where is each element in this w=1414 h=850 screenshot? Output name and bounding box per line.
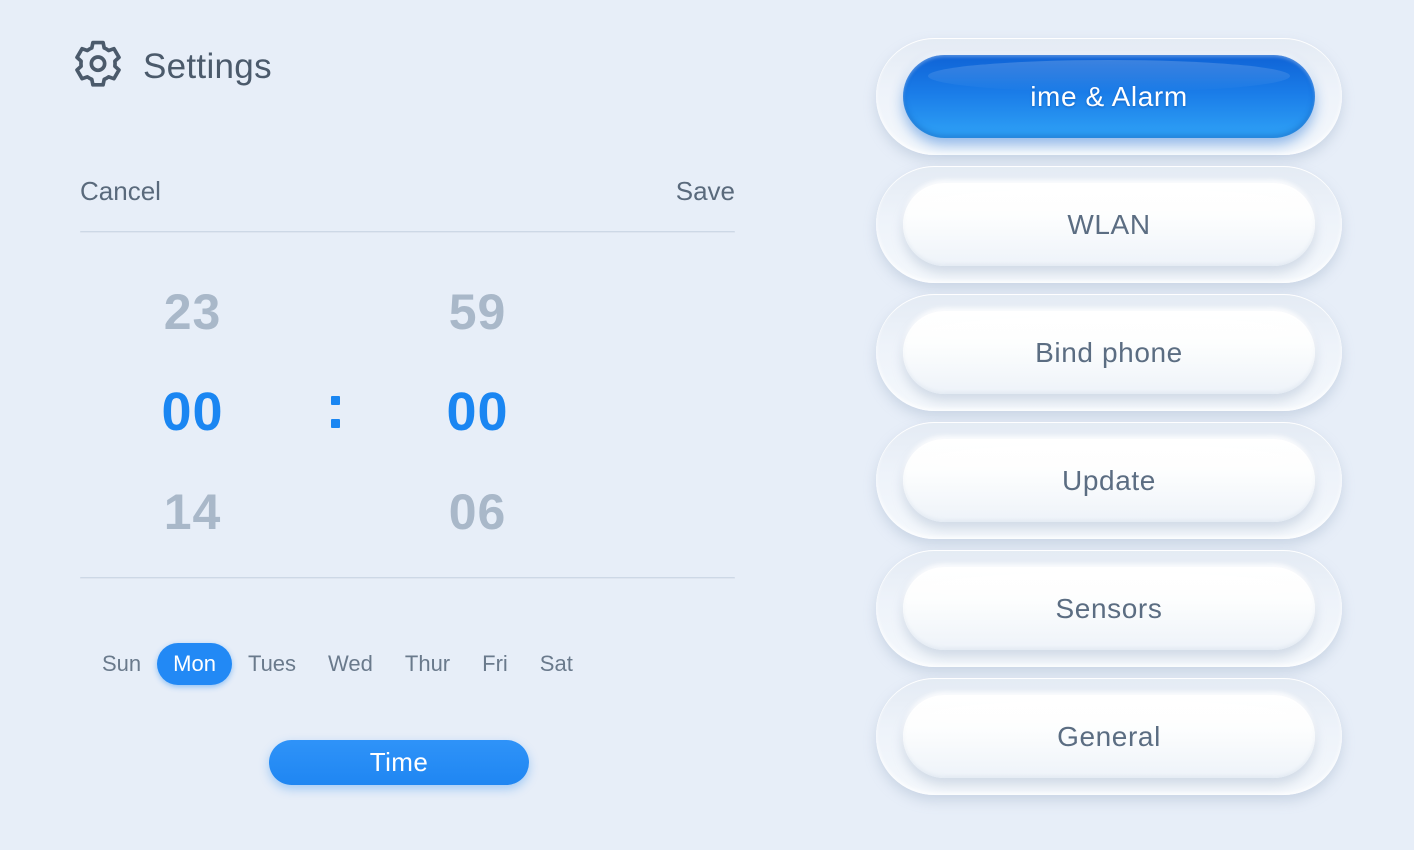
divider-top (80, 231, 735, 233)
nav-item-update[interactable]: Update (876, 422, 1342, 539)
hour-selected[interactable]: 00 (161, 362, 223, 462)
nav-pill-wlan: WLAN (903, 183, 1315, 266)
day-chip-sat[interactable]: Sat (524, 643, 589, 685)
day-chip-thur[interactable]: Thur (389, 643, 466, 685)
day-chip-mon[interactable]: Mon (157, 643, 232, 685)
minute-selected[interactable]: 00 (446, 362, 508, 462)
nav-item-time-alarm[interactable]: ime & Alarm (876, 38, 1342, 155)
minute-next[interactable]: 06 (449, 462, 507, 562)
time-picker: 23 00 14 59 00 06 (80, 262, 735, 562)
gear-icon (70, 38, 126, 94)
day-chip-wed[interactable]: Wed (312, 643, 389, 685)
page-title: Settings (143, 49, 272, 84)
page-header: Settings (70, 38, 272, 94)
cancel-button[interactable]: Cancel (80, 178, 161, 204)
nav-item-wlan[interactable]: WLAN (876, 166, 1342, 283)
day-selector: Sun Mon Tues Wed Thur Fri Sat (86, 643, 589, 685)
nav-item-general[interactable]: General (876, 678, 1342, 795)
minute-column[interactable]: 59 00 06 (365, 262, 590, 562)
settings-screen: Settings Cancel Save 23 00 14 59 00 06 (0, 0, 1414, 850)
nav-label-general: General (1057, 723, 1161, 751)
nav-pill-time-alarm: ime & Alarm (903, 55, 1315, 138)
nav-label-update: Update (1062, 467, 1156, 495)
hour-next[interactable]: 14 (164, 462, 222, 562)
nav-label-bind-phone: Bind phone (1035, 339, 1183, 367)
nav-pill-bind-phone: Bind phone (903, 311, 1315, 394)
settings-nav-list: ime & Alarm WLAN Bind phone Update Senso… (876, 38, 1342, 795)
day-chip-sun[interactable]: Sun (86, 643, 157, 685)
nav-label-wlan: WLAN (1067, 211, 1150, 239)
colon-dot-top (331, 396, 340, 405)
save-button[interactable]: Save (676, 178, 735, 204)
nav-label-sensors: Sensors (1056, 595, 1163, 623)
time-confirm-button[interactable]: Time (269, 740, 529, 785)
hour-previous[interactable]: 23 (164, 262, 222, 362)
day-chip-fri[interactable]: Fri (466, 643, 524, 685)
time-separator (305, 396, 365, 428)
nav-item-sensors[interactable]: Sensors (876, 550, 1342, 667)
time-alarm-panel: Settings Cancel Save 23 00 14 59 00 06 (0, 0, 830, 850)
hour-column[interactable]: 23 00 14 (80, 262, 305, 562)
colon-dot-bottom (331, 419, 340, 428)
minute-previous[interactable]: 59 (449, 262, 507, 362)
nav-pill-general: General (903, 695, 1315, 778)
editor-action-row: Cancel Save (80, 178, 735, 204)
day-chip-tues[interactable]: Tues (232, 643, 312, 685)
nav-pill-sensors: Sensors (903, 567, 1315, 650)
nav-item-bind-phone[interactable]: Bind phone (876, 294, 1342, 411)
nav-pill-update: Update (903, 439, 1315, 522)
divider-bottom (80, 577, 735, 579)
nav-label-time-alarm: ime & Alarm (1030, 83, 1188, 111)
